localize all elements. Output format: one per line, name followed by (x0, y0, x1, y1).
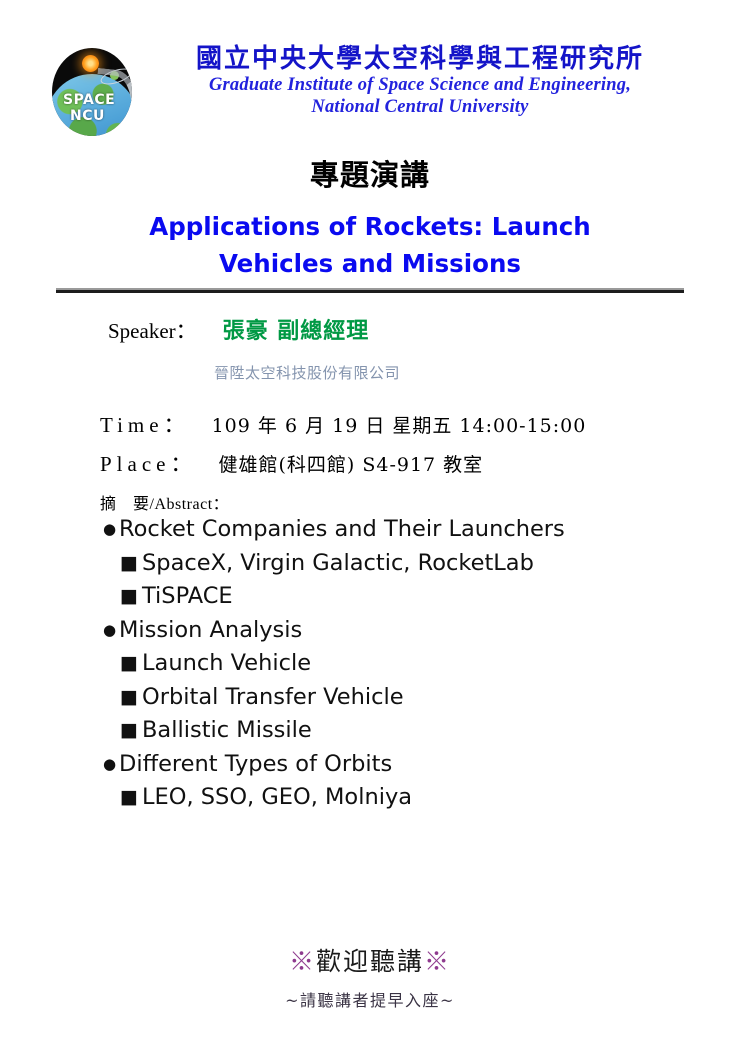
list-item: ■Ballistic Missile (103, 714, 683, 748)
place-label: Place： (100, 452, 196, 476)
list-item-label: SpaceX, Virgin Galactic, RocketLab (142, 547, 534, 581)
welcome-line: ※歡迎聽講※ (0, 942, 740, 978)
list-item: ●Mission Analysis (103, 614, 683, 648)
bullet-square-icon: ■ (120, 781, 141, 815)
list-item: ■TiSPACE (103, 580, 683, 614)
logo-word-ncu: NCU (70, 108, 105, 124)
welcome-text: 歡迎聽講 (316, 947, 424, 976)
star-right-icon: ※ (424, 947, 451, 976)
speaker-name: 張豪 副總經理 (223, 318, 370, 344)
section-kicker: 專題演講 (0, 152, 740, 194)
institute-name-english-line2: National Central University (120, 96, 720, 118)
poster-header: SPACE NCU 國立中央大學太空科學與工程研究所 Graduate Inst… (0, 44, 740, 140)
time-label: Time： (100, 413, 190, 437)
list-item-label: Different Types of Orbits (119, 748, 392, 782)
bullet-square-icon: ■ (120, 681, 141, 715)
abstract-bullet-list: ●Rocket Companies and Their Launchers■Sp… (103, 513, 683, 815)
time-row: Time： 109 年 6 月 19 日 星期五 14:00-15:00 (100, 409, 586, 439)
sun-icon (82, 55, 99, 72)
logo-word-space: SPACE (63, 92, 115, 108)
bullet-dot-icon: ● (103, 513, 118, 547)
list-item-label: Launch Vehicle (142, 647, 311, 681)
time-value: 109 年 6 月 19 日 星期五 14:00-15:00 (212, 415, 587, 437)
list-item-label: TiSPACE (142, 580, 233, 614)
list-item-label: Mission Analysis (119, 614, 302, 648)
speaker-affiliation: 晉陞太空科技股份有限公司 (214, 362, 400, 383)
place-row: Place： 健雄館(科四館) S4-917 教室 (100, 448, 483, 478)
list-item-label: LEO, SSO, GEO, Molniya (142, 781, 412, 815)
list-item: ■Orbital Transfer Vehicle (103, 681, 683, 715)
place-value: 健雄館(科四館) S4-917 教室 (218, 454, 483, 476)
list-item-label: Rocket Companies and Their Launchers (119, 513, 565, 547)
bullet-square-icon: ■ (120, 714, 141, 748)
abstract-label: 摘 要/Abstract： (100, 490, 229, 514)
title-divider (56, 288, 684, 293)
list-item: ■LEO, SSO, GEO, Molniya (103, 781, 683, 815)
bullet-square-icon: ■ (120, 647, 141, 681)
list-item-label: Orbital Transfer Vehicle (142, 681, 404, 715)
institute-name-english-line1: Graduate Institute of Space Science and … (120, 74, 720, 96)
bullet-square-icon: ■ (120, 547, 141, 581)
list-item: ●Different Types of Orbits (103, 748, 683, 782)
page-title: Applications of Rockets: Launch Vehicles… (100, 208, 640, 282)
list-item: ●Rocket Companies and Their Launchers (103, 513, 683, 547)
institute-name-chinese: 國立中央大學太空科學與工程研究所 (120, 44, 720, 74)
speaker-row: Speaker： 張豪 副總經理 (108, 313, 369, 345)
bullet-dot-icon: ● (103, 748, 118, 782)
star-left-icon: ※ (289, 947, 316, 976)
arrive-early-note: ~請聽講者提早入座~ (0, 987, 740, 1011)
bullet-square-icon: ■ (120, 580, 141, 614)
list-item: ■SpaceX, Virgin Galactic, RocketLab (103, 547, 683, 581)
speaker-label: Speaker： (108, 319, 197, 343)
list-item-label: Ballistic Missile (142, 714, 312, 748)
institute-name-block: 國立中央大學太空科學與工程研究所 Graduate Institute of S… (120, 44, 720, 118)
bullet-dot-icon: ● (103, 614, 118, 648)
list-item: ■Launch Vehicle (103, 647, 683, 681)
